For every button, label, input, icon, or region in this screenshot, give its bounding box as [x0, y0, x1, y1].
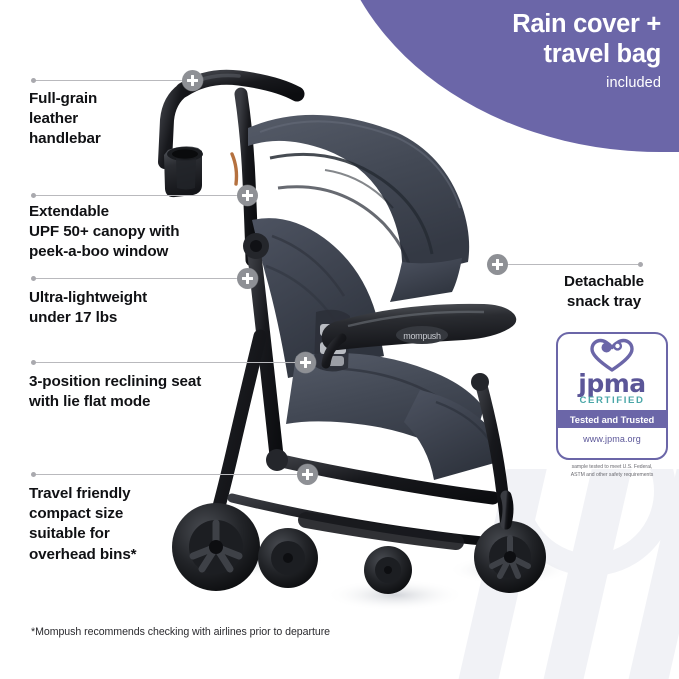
plus-marker-recline[interactable] [295, 352, 316, 373]
callout-dot-canopy [31, 193, 36, 198]
feature-label-handlebar: Full-grain leather handlebar [29, 89, 209, 150]
footnote-text: *Mompush recommends checking with airlin… [31, 626, 330, 638]
plus-marker-weight[interactable] [237, 268, 258, 289]
infographic-canvas: Rain cover + travel bag included [0, 0, 679, 679]
plus-marker-handlebar[interactable] [182, 70, 203, 91]
plus-marker-snack-tray[interactable] [487, 254, 508, 275]
callout-line-weight [34, 278, 246, 279]
feature-label-weight: Ultra-lightweight under 17 lbs [29, 288, 239, 328]
feature-label-snack-tray: Detachable snack tray [538, 272, 670, 312]
jpma-fine-print: sample tested to meet U.S. Federal, ASTM… [553, 464, 671, 479]
header-banner: Rain cover + travel bag included [361, 10, 661, 91]
jpma-url[interactable]: www.jpma.org [583, 434, 641, 444]
callout-dot-weight [31, 276, 36, 281]
jpma-wordmark: jpma [578, 373, 645, 394]
jpma-certified-text: CERTIFIED [579, 395, 644, 406]
header-title-line1: Rain cover + [361, 10, 661, 40]
plus-marker-canopy[interactable] [237, 185, 258, 206]
jpma-tested-trusted-banner: Tested and Trusted [558, 410, 666, 428]
header-title-line2: travel bag [361, 40, 661, 68]
callout-dot-compact [31, 472, 36, 477]
callout-line-recline [34, 362, 302, 363]
feature-label-compact: Travel friendly compact size suitable fo… [29, 484, 219, 565]
callout-line-handlebar [34, 80, 192, 81]
callout-dot-handlebar [31, 78, 36, 83]
callout-dot-recline [31, 360, 36, 365]
svg-text:mompush: mompush [403, 331, 441, 341]
jpma-heart-logo-icon [589, 338, 635, 372]
callout-dot-snack-tray [638, 262, 643, 267]
feature-label-canopy: Extendable UPF 50+ canopy with peek-a-bo… [29, 202, 229, 263]
header-subtitle: included [361, 75, 661, 91]
feature-label-recline: 3-position reclining seat with lie flat … [29, 372, 269, 412]
jpma-card: jpma CERTIFIED Tested and Trusted www.jp… [556, 332, 668, 460]
callout-line-canopy [34, 195, 246, 196]
callout-line-compact [34, 474, 304, 475]
jpma-certification-badge: jpma CERTIFIED Tested and Trusted www.jp… [556, 332, 668, 479]
plus-marker-compact[interactable] [297, 464, 318, 485]
callout-line-snack-tray [497, 264, 641, 265]
